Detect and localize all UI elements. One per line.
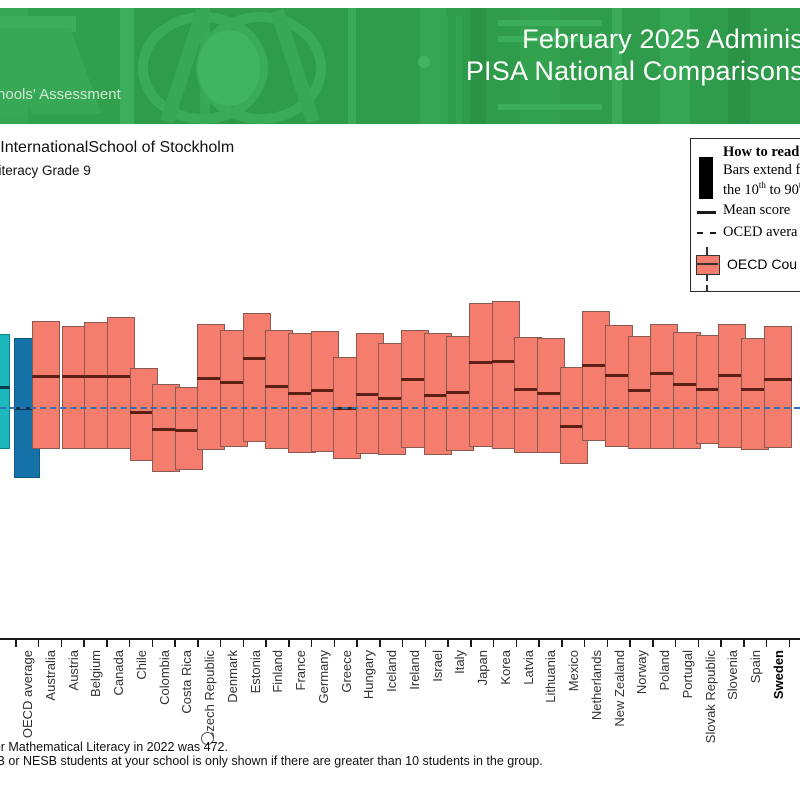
- x-axis-tick: [106, 640, 108, 647]
- x-axis-label-spain: Spain: [748, 650, 763, 683]
- legend-dashed-line-icon: [697, 232, 716, 234]
- page-banner: February 2025 Adminis PISA National Comp…: [0, 8, 800, 124]
- x-axis-tick: [311, 640, 313, 647]
- footnote-line1: age for Mathematical Literacy in 2022 wa…: [0, 740, 228, 754]
- x-axis-label-iceland: Iceland: [384, 650, 399, 692]
- x-axis-label-france: France: [293, 650, 308, 690]
- x-axis-label-czech-republic: Czech Republic: [202, 650, 217, 741]
- x-axis-tick: [15, 640, 17, 647]
- x-axis-label-latvia: Latvia: [521, 650, 536, 685]
- x-axis-label-canada: Canada: [111, 650, 126, 696]
- x-axis-tick: [379, 640, 381, 647]
- x-axis-tick: [288, 640, 290, 647]
- bar-body: [32, 321, 60, 449]
- x-axis-label-new-zealand: New Zealand: [612, 650, 627, 727]
- subject-grade-line: cal Literacy Grade 9: [0, 163, 91, 178]
- x-axis-tick: [425, 640, 427, 647]
- x-axis-tick: [516, 640, 518, 647]
- bar-mean-line: [0, 386, 10, 389]
- x-axis-tick: [720, 640, 722, 647]
- banner-left-caption: l Schools' Assessment: [0, 86, 121, 103]
- x-axis-tick: [789, 640, 791, 647]
- x-axis-tick: [470, 640, 472, 647]
- report-page: February 2025 Adminis PISA National Comp…: [0, 0, 800, 800]
- legend-desc2-sup1: th: [759, 180, 766, 190]
- x-axis-label-sweden: Sweden: [771, 650, 786, 699]
- x-axis-tick: [61, 640, 63, 647]
- x-axis-tick: [698, 640, 700, 647]
- x-axis-tick: [220, 640, 222, 647]
- x-axis-label-finland: Finland: [270, 650, 285, 693]
- x-axis-tick: [83, 640, 85, 647]
- banner-title-block: February 2025 Adminis PISA National Comp…: [466, 24, 800, 88]
- x-axis-tick: [652, 640, 654, 647]
- chart-plot-area: [0, 300, 800, 640]
- x-axis-label-slovenia: Slovenia: [725, 650, 740, 700]
- x-axis-label-netherlands: Netherlands: [589, 650, 604, 720]
- x-axis-label-israel: Israel: [430, 650, 445, 682]
- x-axis-label-estonia: Estonia: [248, 650, 263, 693]
- legend-label-oecd-country: OECD Cou: [727, 256, 797, 272]
- x-axis-tick: [447, 640, 449, 647]
- x-axis-label-lithuania: Lithuania: [543, 650, 558, 703]
- bar-mean-line: [32, 375, 60, 378]
- x-axis-tick: [265, 640, 267, 647]
- x-axis-label-chile: Chile: [134, 650, 149, 680]
- x-axis-label-korea: Korea: [498, 650, 513, 685]
- footnote-line2: of ESB or NESB students at your school i…: [0, 754, 543, 768]
- x-axis-line: [0, 638, 800, 640]
- legend-swatch-oecd-country-icon: [696, 247, 718, 281]
- x-axis-label-greece: Greece: [339, 650, 354, 693]
- x-axis-tick: [38, 640, 40, 647]
- x-axis-label-denmark: Denmark: [225, 650, 240, 703]
- x-axis-tick: [356, 640, 358, 647]
- legend-mean-line-icon: [697, 211, 716, 214]
- x-axis-label-austria: Austria: [66, 650, 81, 690]
- x-axis-label-oecd-average: OECD average: [20, 650, 35, 738]
- legend-mean-label: Mean score: [723, 202, 790, 219]
- x-axis-tick: [152, 640, 154, 647]
- x-axis-tick: [675, 640, 677, 647]
- x-axis-tick: [584, 640, 586, 647]
- x-axis-label-australia: Australia: [43, 650, 58, 701]
- legend-oecd-average-label: OCED avera: [723, 224, 797, 241]
- x-axis-tick: [561, 640, 563, 647]
- banner-title-line1: February 2025 Adminis: [466, 24, 800, 56]
- x-axis-label-colombia: Colombia: [157, 650, 172, 705]
- x-axis-tick: [402, 640, 404, 647]
- legend-desc2-mid: to 90: [766, 182, 799, 198]
- bars-container: [0, 300, 800, 638]
- x-axis-tick: [607, 640, 609, 647]
- x-axis-label-poland: Poland: [657, 650, 672, 690]
- x-axis-label-belgium: Belgium: [88, 650, 103, 697]
- oecd-average-dashed-line: [0, 407, 800, 409]
- x-axis-tick: [493, 640, 495, 647]
- x-axis-tick: [129, 640, 131, 647]
- chart-legend: How to read Bars extend f the 10th to 90…: [690, 138, 800, 292]
- x-axis-label-costa-rica: Costa Rica: [179, 650, 194, 714]
- x-axis-label-slovak-republic: Slovak Republic: [703, 650, 718, 743]
- bar-body: [764, 326, 792, 448]
- banner-title-line2: PISA National Comparisons: [466, 56, 800, 88]
- school-name: olanInternationalSchool of Stockholm: [0, 139, 234, 157]
- x-axis-tick: [766, 640, 768, 647]
- legend-description-line1: Bars extend f: [723, 162, 800, 179]
- legend-desc2-pre: the 10: [723, 182, 759, 198]
- legend-description-line2: the 10th to 90th: [723, 180, 800, 199]
- bar-australia[interactable]: [32, 321, 60, 449]
- x-axis-tick: [174, 640, 176, 647]
- bar-your-school[interactable]: [0, 334, 10, 449]
- x-axis-label-norway: Norway: [634, 650, 649, 694]
- x-axis-tick: [197, 640, 199, 647]
- legend-swatch-your-school-icon: [696, 285, 718, 292]
- bar-sweden[interactable]: [764, 326, 792, 448]
- x-axis-label-japan: Japan: [475, 650, 490, 685]
- x-axis-tick: [334, 640, 336, 647]
- x-axis-label-ireland: Ireland: [407, 650, 422, 690]
- legend-title: How to read: [723, 144, 799, 161]
- x-axis-tick: [538, 640, 540, 647]
- bar-body: [0, 334, 10, 449]
- x-axis-label-portugal: Portugal: [680, 650, 695, 698]
- x-axis-label-germany: Germany: [316, 650, 331, 703]
- x-axis-label-mexico: Mexico: [566, 650, 581, 691]
- x-axis-tick: [629, 640, 631, 647]
- x-axis-label-italy: Italy: [452, 650, 467, 674]
- x-axis-tick: [743, 640, 745, 647]
- x-axis-tick: [243, 640, 245, 647]
- x-axis-label-hungary: Hungary: [361, 650, 376, 699]
- legend-range-bar-icon: [699, 157, 713, 199]
- bar-mean-line: [764, 378, 792, 381]
